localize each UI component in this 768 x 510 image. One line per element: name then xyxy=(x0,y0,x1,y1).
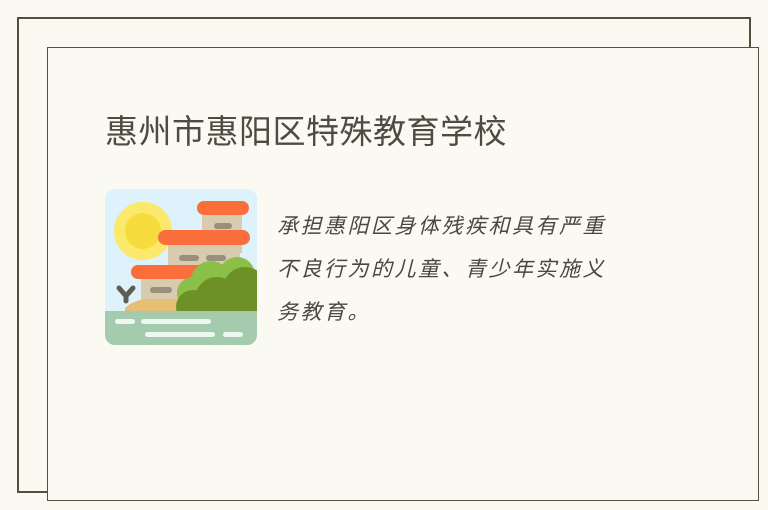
card-inner-frame: 惠州市惠阳区特殊教育学校 xyxy=(47,47,759,501)
description-line: 不良行为的儿童、青少年实施义 xyxy=(277,248,697,291)
card-outer-frame: 惠州市惠阳区特殊教育学校 xyxy=(17,17,751,493)
description-line: 承担惠阳区身体残疾和具有严重 xyxy=(277,205,697,248)
description-block: 承担惠阳区身体残疾和具有严重 不良行为的儿童、青少年实施义 务教育。 xyxy=(277,205,697,334)
description-line: 务教育。 xyxy=(277,291,697,334)
school-landscape-icon xyxy=(105,189,257,345)
page-title: 惠州市惠阳区特殊教育学校 xyxy=(105,110,507,154)
